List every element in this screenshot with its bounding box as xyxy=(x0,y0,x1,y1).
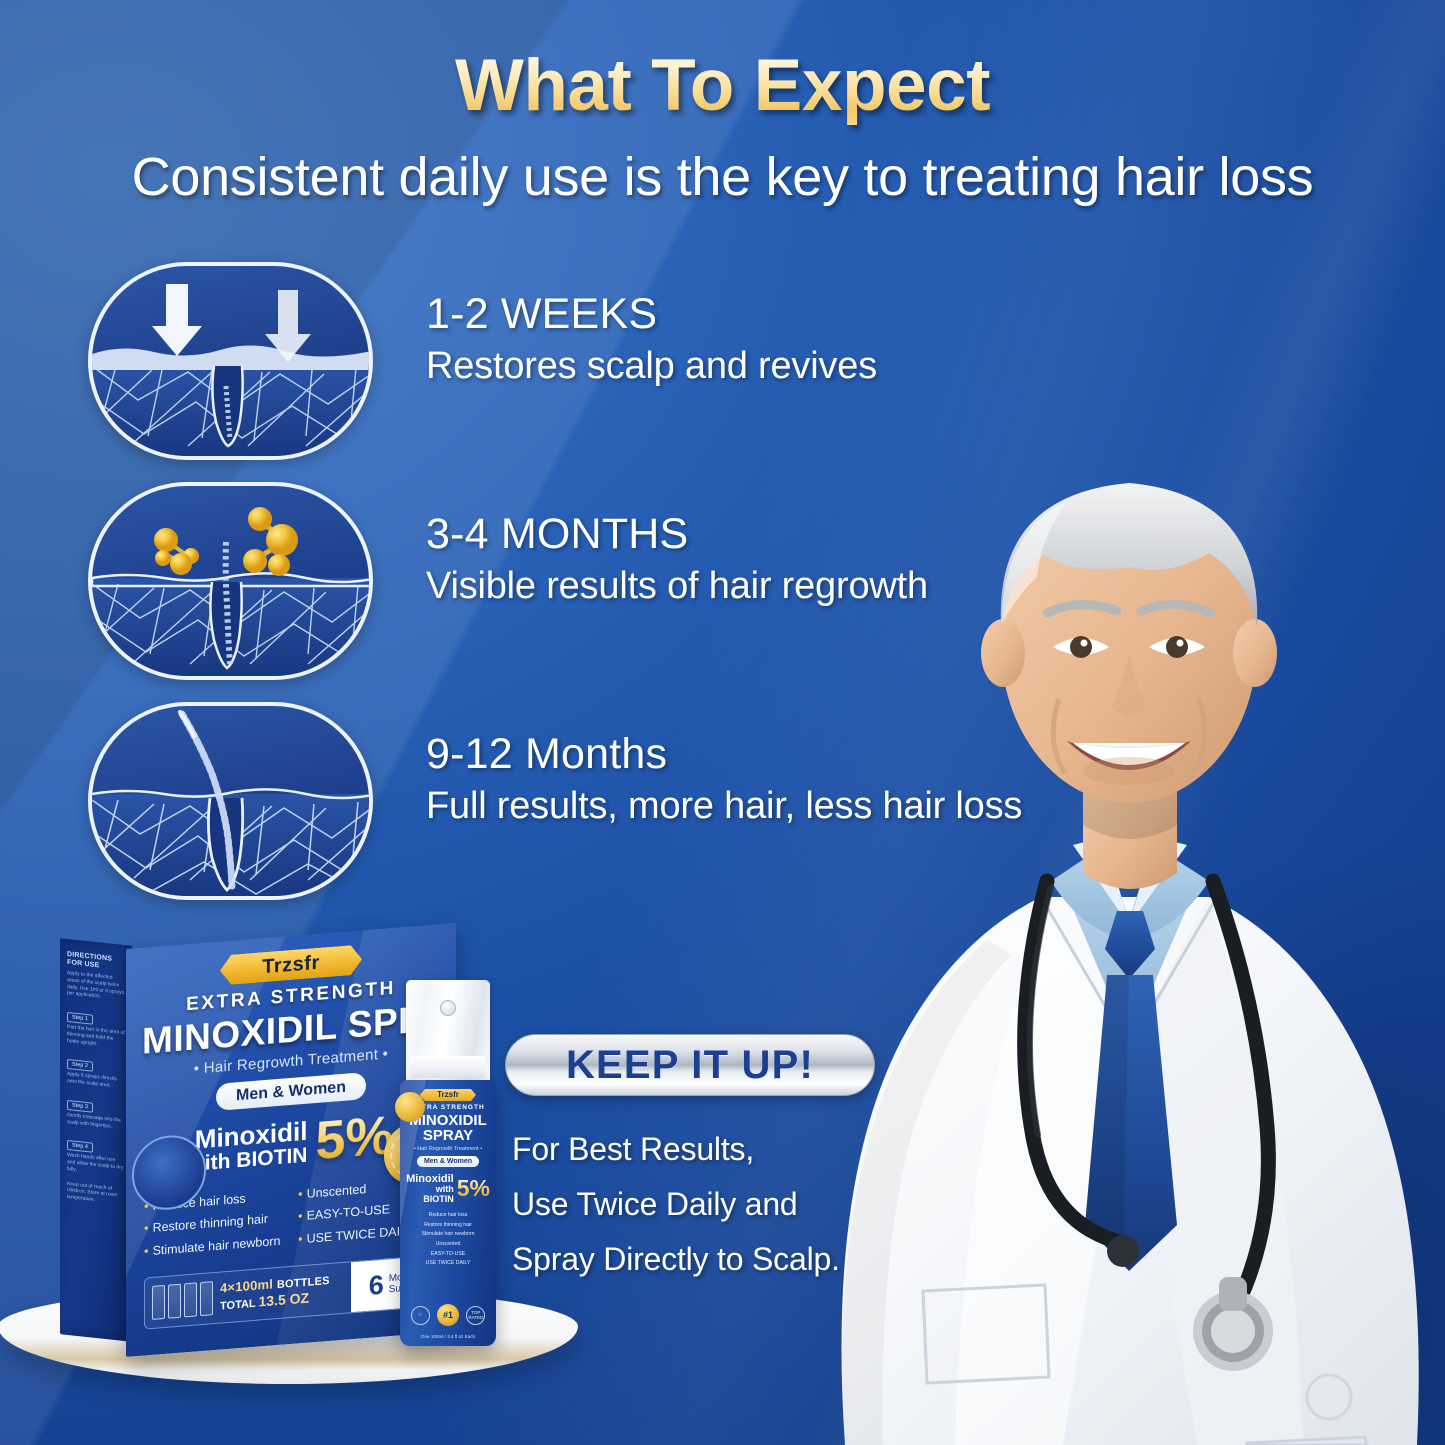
bottle-benefit-item: Unscented xyxy=(406,1240,490,1250)
keep-it-up-label: KEEP IT UP! xyxy=(566,1043,814,1088)
directions-footer: Keep out of reach of children. Store at … xyxy=(67,1181,125,1207)
bottle-benefit-item: USE TWICE DAILY xyxy=(406,1259,490,1269)
quantity-text: 4×100ml BOTTLES TOTAL 13.5 OZ xyxy=(220,1272,351,1314)
mini-bottle-icon xyxy=(200,1281,213,1316)
bottle-benefit-item: Stimulate hair newborn xyxy=(406,1230,490,1240)
molecule-follicle-illustration xyxy=(92,486,373,680)
bullet-dot-icon: • xyxy=(298,1231,303,1246)
molecule-cluster-right xyxy=(243,507,298,576)
bottle-footer-text: One 100ml / 3.4 fl oz Each xyxy=(400,1334,496,1339)
molecule-follicle-icon xyxy=(88,482,373,680)
bottle-active-secondary: with BIOTIN xyxy=(406,1185,454,1204)
scalp-absorption-illustration xyxy=(92,266,373,460)
benefit-text: EASY-TO-USE xyxy=(307,1203,390,1224)
step-tag: Step 2 xyxy=(67,1059,93,1072)
nozzle-icon xyxy=(440,1000,456,1016)
bottle-treatment-label: • Hair Regrowth Treatment • xyxy=(406,1146,490,1152)
spray-pump-cap xyxy=(406,980,490,1084)
bullet-dot-icon: • xyxy=(144,1221,149,1236)
benefit-text: Unscented xyxy=(307,1182,367,1201)
bullet-dot-icon: • xyxy=(298,1209,303,1224)
box-directions-panel: DIRECTIONS FOR USE Apply to the affected… xyxy=(60,938,132,1342)
top-rated-seal-icon: TOP RATED xyxy=(466,1306,485,1325)
doctor-illustration xyxy=(805,325,1445,1445)
strength-percent: 5% xyxy=(315,1111,393,1166)
spray-bottle: Trzsfr EXTRA STRENGTH MINOXIDIL SPRAY • … xyxy=(398,980,498,1346)
total-value: 13.5 OZ xyxy=(259,1290,310,1310)
bottle-name-line-2: SPRAY xyxy=(406,1128,490,1143)
bottle-strength-percent: 5% xyxy=(457,1178,490,1199)
quantity-bar: 4×100ml BOTTLES TOTAL 13.5 OZ 6 Month Su… xyxy=(144,1255,438,1330)
audience-badge: Men & Women xyxy=(216,1072,366,1111)
bottle-benefit-item: Reduce hair loss xyxy=(406,1211,490,1221)
page-subtitle: Consistent daily use is the key to treat… xyxy=(0,146,1445,208)
bottle-count-icons xyxy=(145,1281,220,1321)
cap-collar xyxy=(410,1056,486,1078)
bottle-benefit-item: Restore thinning hair xyxy=(406,1221,490,1231)
step-text: Apply 6 sprays directly onto the scalp a… xyxy=(67,1071,125,1091)
mini-bottle-icon xyxy=(184,1283,197,1318)
mini-bottle-icon xyxy=(168,1284,181,1319)
rank-badge: #1 xyxy=(437,1304,459,1326)
benefit-text: Stimulate hair newborn xyxy=(153,1234,281,1258)
step-tag: Step 1 xyxy=(67,1012,93,1025)
bullet-dot-icon: • xyxy=(298,1186,303,1201)
doctor-photo xyxy=(805,325,1445,1445)
bottle-benefit-list: Reduce hair loss Restore thinning hair S… xyxy=(406,1211,490,1269)
scalp-absorption-icon xyxy=(88,262,373,460)
full-hair-growth-icon xyxy=(88,702,373,900)
page-title: What To Expect xyxy=(0,44,1445,127)
mini-bottle-icon xyxy=(152,1285,165,1320)
bottle-audience-badge: Men & Women xyxy=(417,1156,479,1167)
bottle-brand-badge: Trzsfr xyxy=(420,1089,476,1101)
full-hair-growth-illustration xyxy=(92,706,373,900)
bottle-quality-seal-icon xyxy=(395,1092,425,1122)
step-text: Gently massage into the scalp with finge… xyxy=(67,1112,125,1132)
bottle-benefit-item: EASY-TO-USE xyxy=(406,1250,490,1260)
directions-intro: Apply to the affected areas of the scalp… xyxy=(67,970,125,1003)
step-tag: Step 4 xyxy=(67,1140,93,1153)
bullet-dot-icon: • xyxy=(144,1244,149,1259)
supply-number: 6 xyxy=(369,1269,384,1301)
step-tag: Step 3 xyxy=(67,1100,93,1113)
step-text: Part the hair in the area of thinning an… xyxy=(67,1024,125,1050)
brand-badge: Trzsfr xyxy=(220,944,362,985)
step-text: Wash hands after use and allow the scalp… xyxy=(67,1152,125,1178)
molecule-cluster-left xyxy=(154,528,199,575)
bottle-strength-row: Minoxidil with BIOTIN 5% xyxy=(406,1174,490,1204)
directions-title: DIRECTIONS FOR USE xyxy=(67,951,125,973)
bottle-badge-row: ♲ #1 TOP RATED xyxy=(400,1304,496,1326)
total-label: TOTAL xyxy=(220,1298,255,1313)
recycle-icon: ♲ xyxy=(411,1306,430,1325)
